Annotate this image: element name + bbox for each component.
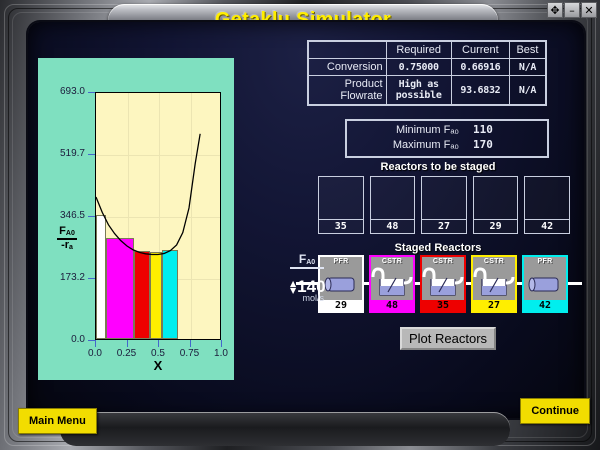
move-icon[interactable]: ✥: [547, 2, 563, 18]
flowrate-current: 93.6832: [451, 76, 509, 106]
fa0-stepper-label: FA0: [290, 252, 324, 269]
y-axis-label-numerator: FA0: [57, 226, 77, 240]
close-icon[interactable]: ✕: [581, 2, 597, 18]
reactor-slot-value: 48: [371, 219, 415, 233]
cstr-reactor-icon: [371, 265, 413, 299]
reactors-to-be-staged-heading: Reactors to be staged: [307, 161, 569, 173]
y-axis-tick-label: 693.0: [60, 86, 85, 97]
staged-reactor[interactable]: CSTR27: [471, 255, 517, 313]
y-axis-tick-label: 173.2: [60, 272, 85, 283]
table-corner-cell: [308, 41, 386, 59]
column-header-required: Required: [386, 41, 451, 59]
staged-reactor[interactable]: CSTR35: [420, 255, 466, 313]
fa0-value: 140: [297, 279, 325, 294]
staged-reactor-value: 35: [422, 300, 464, 311]
levenspiel-chart-panel: FA0 -ra X 0.0173.2346.5519.7693.00.00.25…: [38, 58, 234, 380]
staged-reactor-value: 27: [473, 300, 515, 311]
x-axis-tick-mark: [158, 340, 159, 347]
reactor-slot-value: 42: [525, 219, 569, 233]
maximum-fa0-row: Maximum Fₐ₀ 170: [347, 138, 547, 153]
x-axis-tick-mark: [190, 340, 191, 347]
row-label-product-flowrate: Product Flowrate: [308, 76, 386, 106]
plot-area: [95, 92, 221, 340]
reactor-slot[interactable]: 35: [318, 176, 364, 234]
y-axis-label: FA0 -ra: [44, 226, 90, 251]
conversion-best: N/A: [509, 59, 546, 76]
staged-reactor-type: CSTR: [433, 258, 453, 265]
maximum-fa0-value: 170: [459, 138, 531, 152]
staged-reactors-train[interactable]: PFR29CSTR48CSTR35CSTR27PFR42: [318, 255, 568, 313]
plot-reactors-button[interactable]: Plot Reactors: [400, 327, 496, 350]
staged-reactor-type: PFR: [334, 258, 349, 265]
staged-reactor-type: CSTR: [484, 258, 504, 265]
reactor-slot-value: 29: [474, 219, 518, 233]
pfr-reactor-icon: [524, 265, 566, 299]
x-axis-label: X: [95, 358, 221, 373]
reactor-slot-value: 35: [319, 219, 363, 233]
fa0-stepper[interactable]: FA0 ▲ ▼ 140 mol/s: [290, 252, 324, 303]
y-axis-tick-label: 0.0: [71, 334, 85, 345]
application-window: Getaklu Simulator ✥ – ✕ FA0 -ra X 0.0173…: [0, 0, 600, 450]
maximum-fa0-label: Maximum Fₐ₀: [363, 139, 459, 153]
staged-reactor-value: 29: [320, 300, 362, 311]
y-axis-tick-mark: [88, 92, 95, 93]
staged-reactor-type: PFR: [538, 258, 553, 265]
table-row: Conversion 0.75000 0.66916 N/A: [308, 59, 546, 76]
staged-reactor-type: CSTR: [382, 258, 402, 265]
continue-button[interactable]: Continue: [520, 398, 590, 424]
fa0-units: mol/s: [290, 293, 324, 303]
reactor-slot-value: 27: [422, 219, 466, 233]
x-axis-tick-mark: [221, 340, 222, 347]
reactor-slot[interactable]: 42: [524, 176, 570, 234]
staged-reactor[interactable]: PFR42: [522, 255, 568, 313]
minimum-fa0-row: Minimum Fₐ₀ 110: [347, 123, 547, 138]
y-axis-tick-mark: [88, 154, 95, 155]
fa0-decrement-icon[interactable]: ▼: [290, 287, 296, 294]
x-axis-tick-label: 1.0: [201, 348, 241, 359]
cstr-reactor-icon: [473, 265, 515, 299]
y-axis-tick-mark: [88, 340, 95, 341]
bottom-rail: [60, 412, 510, 446]
column-header-current: Current: [451, 41, 509, 59]
table-header-row: Required Current Best: [308, 41, 546, 59]
staged-reactor-value: 42: [524, 300, 566, 311]
conversion-current: 0.66916: [451, 59, 509, 76]
staged-reactors-heading: Staged Reactors: [307, 242, 569, 254]
y-axis-tick-label: 346.5: [60, 210, 85, 221]
window-controls: ✥ – ✕: [547, 2, 597, 18]
minimize-icon[interactable]: –: [564, 2, 580, 18]
x-axis-tick-mark: [95, 340, 96, 347]
results-table: Required Current Best Conversion 0.75000…: [307, 40, 547, 106]
cstr-reactor-icon: [422, 265, 464, 299]
y-axis-tick-mark: [88, 278, 95, 279]
table-row: Product Flowrate High as possible 93.683…: [308, 76, 546, 106]
staged-reactor[interactable]: CSTR48: [369, 255, 415, 313]
staged-reactor-value: 48: [371, 300, 413, 311]
fa0-stepper-arrows[interactable]: ▲ ▼: [290, 280, 296, 294]
flowrate-required: High as possible: [386, 76, 451, 106]
x-axis-tick-mark: [127, 340, 128, 347]
fa0-limits-box: Minimum Fₐ₀ 110 Maximum Fₐ₀ 170: [345, 119, 549, 158]
reactor-slot[interactable]: 27: [421, 176, 467, 234]
row-label-conversion: Conversion: [308, 59, 386, 76]
flowrate-best: N/A: [509, 76, 546, 106]
minimum-fa0-value: 110: [459, 123, 531, 137]
levenspiel-curve: [96, 93, 220, 339]
main-menu-button[interactable]: Main Menu: [18, 408, 97, 434]
reactor-slot[interactable]: 29: [473, 176, 519, 234]
y-axis-tick-label: 519.7: [60, 148, 85, 159]
pfr-reactor-icon: [320, 265, 362, 299]
minimum-fa0-label: Minimum Fₐ₀: [363, 124, 459, 138]
y-axis-tick-mark: [88, 216, 95, 217]
y-axis-label-denominator: -ra: [61, 239, 73, 251]
reactors-to-be-staged-tray[interactable]: 3548272942: [318, 176, 570, 234]
column-header-best: Best: [509, 41, 546, 59]
reactor-slot[interactable]: 48: [370, 176, 416, 234]
conversion-required: 0.75000: [386, 59, 451, 76]
